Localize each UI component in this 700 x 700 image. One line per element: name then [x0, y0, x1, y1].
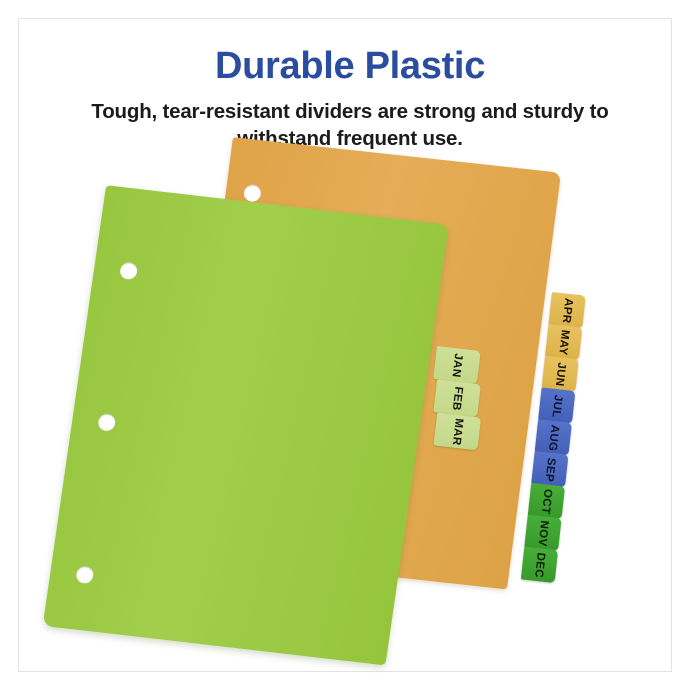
divider-tab-mar[interactable]: MAR	[434, 412, 482, 450]
divider-tab-aug[interactable]: AUG	[535, 419, 572, 455]
divider-tab-nov[interactable]: NOV	[524, 515, 561, 551]
divider-tab-label: JUN	[553, 361, 568, 386]
divider-tab-label: MAR	[450, 417, 465, 446]
divider-tab-label: DEC	[532, 551, 547, 578]
green-divider-sheet	[43, 185, 449, 665]
divider-tab-label: NOV	[536, 519, 551, 546]
punch-hole	[119, 261, 138, 280]
divider-tab-label: SEP	[543, 457, 558, 482]
divider-tab-label: APR	[560, 297, 575, 324]
punch-hole	[97, 413, 116, 432]
page-title: Durable Plastic	[0, 47, 700, 87]
divider-tab-label: JAN	[450, 352, 465, 377]
product-photo: JAN FEB MAR APR MAY JUN JUL AUG	[0, 150, 700, 680]
divider-tab-feb[interactable]: FEB	[433, 379, 481, 417]
page-subtitle: Tough, tear-resistant dividers are stron…	[60, 98, 640, 152]
divider-tab-jun[interactable]: JUN	[542, 356, 579, 392]
divider-tab-label: FEB	[450, 385, 465, 410]
divider-tab-label: MAY	[556, 329, 571, 356]
divider-tab-jan[interactable]: JAN	[433, 346, 481, 384]
divider-tab-may[interactable]: MAY	[545, 324, 582, 360]
divider-tab-label: AUG	[546, 424, 561, 452]
divider-tab-label: JUL	[550, 394, 564, 418]
product-feature-card: Durable Plastic Tough, tear-resistant di…	[0, 0, 700, 700]
punch-hole	[75, 565, 94, 584]
punch-hole	[243, 184, 262, 203]
divider-tab-dec[interactable]: DEC	[521, 547, 558, 583]
divider-tab-sep[interactable]: SEP	[531, 451, 568, 487]
divider-tab-label: OCT	[539, 488, 554, 515]
divider-tab-oct[interactable]: OCT	[528, 483, 565, 519]
divider-tab-apr[interactable]: APR	[548, 292, 585, 328]
divider-tab-jul[interactable]: JUL	[538, 387, 575, 423]
